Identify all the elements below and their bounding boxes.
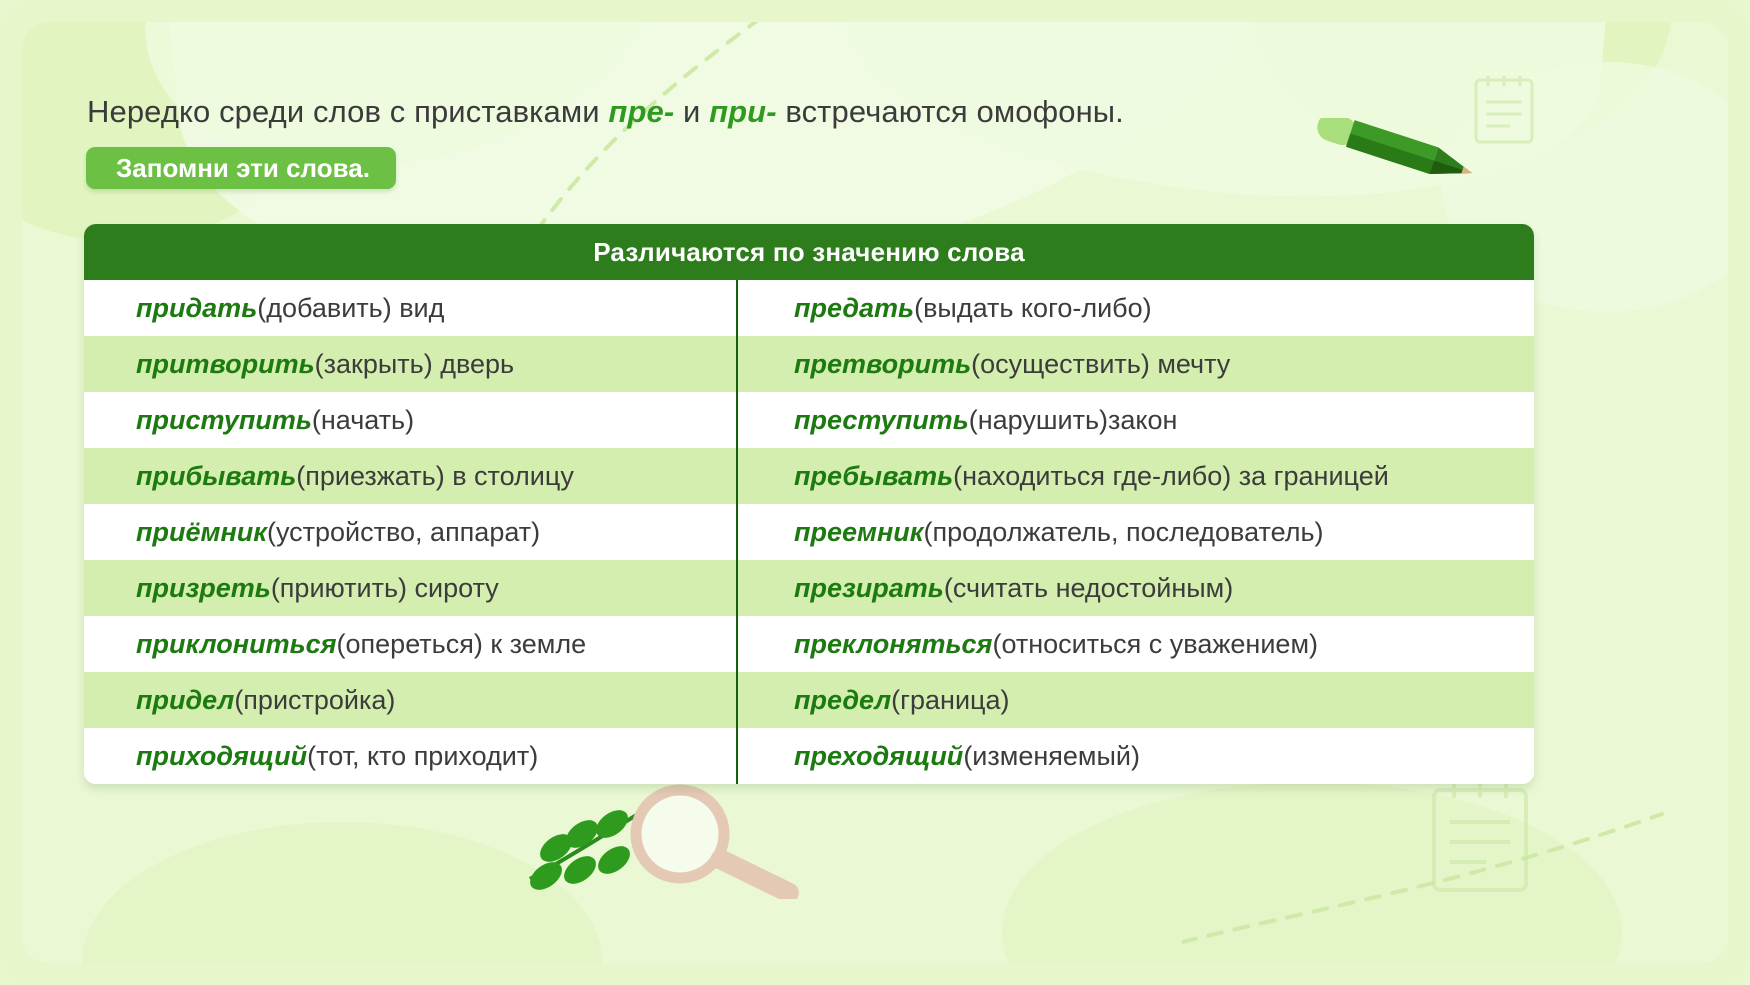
keyword: преходящий xyxy=(794,741,963,772)
table-cell-pri: придать (добавить) вид xyxy=(84,280,736,336)
intro-prefix-pre: пре- xyxy=(608,94,674,129)
table-row: приёмник(устройство, аппарат) преемник (… xyxy=(84,504,1534,560)
table-row: приступить (начать) преступить (нарушить… xyxy=(84,392,1534,448)
table-cell-pri: притворить (закрыть) дверь xyxy=(84,336,736,392)
table-cell-pri: прибывать (приезжать) в столицу xyxy=(84,448,736,504)
gloss: (пристройка) xyxy=(234,685,395,716)
table-row: приклониться (опереться) к земле преклон… xyxy=(84,616,1534,672)
keyword: приклониться xyxy=(136,629,337,660)
gloss: (граница) xyxy=(891,685,1009,716)
gloss: (выдать кого-либо) xyxy=(914,293,1152,324)
gloss: (приезжать) в столицу xyxy=(296,461,574,492)
remember-words-banner: Запомни эти слова. xyxy=(86,147,396,189)
table-cell-pre: преемник (продолжатель, последователь) xyxy=(736,504,1534,560)
gloss: (относиться с уважением) xyxy=(992,629,1318,660)
gloss: (продолжатель, последователь) xyxy=(923,517,1323,548)
keyword: пребывать xyxy=(794,461,953,492)
gloss: (тот, кто приходит) xyxy=(307,741,538,772)
table-body: придать (добавить) вид предать (выдать к… xyxy=(84,280,1534,784)
keyword: придел xyxy=(136,685,234,716)
keyword: претворить xyxy=(794,349,971,380)
keyword: предел xyxy=(794,685,891,716)
table-cell-pri: придел (пристройка) xyxy=(84,672,736,728)
gloss: (устройство, аппарат) xyxy=(267,517,540,548)
keyword: прибывать xyxy=(136,461,296,492)
gloss: (находиться где-либо) за границей xyxy=(953,461,1389,492)
table-header-label: Различаются по значению слова xyxy=(593,237,1025,268)
intro-text-part2: и xyxy=(674,94,709,129)
intro-text-part3: встречаются омофоны. xyxy=(777,94,1124,129)
gloss: (опереться) к земле xyxy=(337,629,587,660)
keyword: приступить xyxy=(136,405,312,436)
intro-prefix-pri: при- xyxy=(709,94,777,129)
keyword: преклоняться xyxy=(794,629,992,660)
table-cell-pri: приклониться (опереться) к земле xyxy=(84,616,736,672)
table-row: придел (пристройка) предел (граница) xyxy=(84,672,1534,728)
keyword: предать xyxy=(794,293,914,324)
keyword: притворить xyxy=(136,349,315,380)
gloss: (добавить) вид xyxy=(257,293,444,324)
gloss: (закрыть) дверь xyxy=(315,349,514,380)
table-cell-pre: претворить (осуществить) мечту xyxy=(736,336,1534,392)
column-divider xyxy=(736,280,738,784)
keyword: придать xyxy=(136,293,257,324)
gloss: (изменяемый) xyxy=(963,741,1140,772)
slide-frame-inner: Нередко среди слов с приставками пре- и … xyxy=(22,22,1728,963)
keyword: преемник xyxy=(794,517,923,548)
table-cell-pre: предать (выдать кого-либо) xyxy=(736,280,1534,336)
table-cell-pri: приступить (начать) xyxy=(84,392,736,448)
intro-text-part1: Нередко среди слов с приставками xyxy=(87,94,608,129)
table-row: придать (добавить) вид предать (выдать к… xyxy=(84,280,1534,336)
slide-frame-outer: Нередко среди слов с приставками пре- и … xyxy=(0,0,1750,985)
table-row: приходящий (тот, кто приходит) преходящи… xyxy=(84,728,1534,784)
intro-sentence: Нередко среди слов с приставками пре- и … xyxy=(87,94,1124,130)
table-cell-pre: преходящий (изменяемый) xyxy=(736,728,1534,784)
table-cell-pri: призреть (приютить) сироту xyxy=(84,560,736,616)
keyword: преступить xyxy=(794,405,969,436)
words-table-card: Различаются по значению слова придать (д… xyxy=(84,224,1534,784)
gloss: (приютить) сироту xyxy=(271,573,499,604)
keyword: приёмник xyxy=(136,517,267,548)
remember-words-label: Запомни эти слова. xyxy=(116,153,370,184)
table-cell-pri: приходящий (тот, кто приходит) xyxy=(84,728,736,784)
keyword: приходящий xyxy=(136,741,307,772)
gloss: (считать недостойным) xyxy=(944,573,1233,604)
table-header: Различаются по значению слова xyxy=(84,224,1534,280)
keyword: презирать xyxy=(794,573,944,604)
gloss: (начать) xyxy=(312,405,414,436)
table-cell-pre: пребывать (находиться где-либо) за грани… xyxy=(736,448,1534,504)
table-cell-pre: преклоняться (относиться с уважением) xyxy=(736,616,1534,672)
magnifier-icon xyxy=(520,784,850,899)
table-cell-pre: презирать (считать недостойным) xyxy=(736,560,1534,616)
gloss: (нарушить)закон xyxy=(969,405,1178,436)
table-cell-pre: преступить (нарушить)закон xyxy=(736,392,1534,448)
table-row: прибывать (приезжать) в столицу пребыват… xyxy=(84,448,1534,504)
keyword: призреть xyxy=(136,573,271,604)
background-blob xyxy=(82,822,602,963)
table-cell-pri: приёмник(устройство, аппарат) xyxy=(84,504,736,560)
gloss: (осуществить) мечту xyxy=(971,349,1230,380)
table-row: призреть (приютить) сироту презирать (сч… xyxy=(84,560,1534,616)
background-blob xyxy=(1002,782,1622,963)
table-cell-pre: предел (граница) xyxy=(736,672,1534,728)
table-row: притворить (закрыть) дверь претворить (о… xyxy=(84,336,1534,392)
slide-root: Нередко среди слов с приставками пре- и … xyxy=(0,0,1750,985)
